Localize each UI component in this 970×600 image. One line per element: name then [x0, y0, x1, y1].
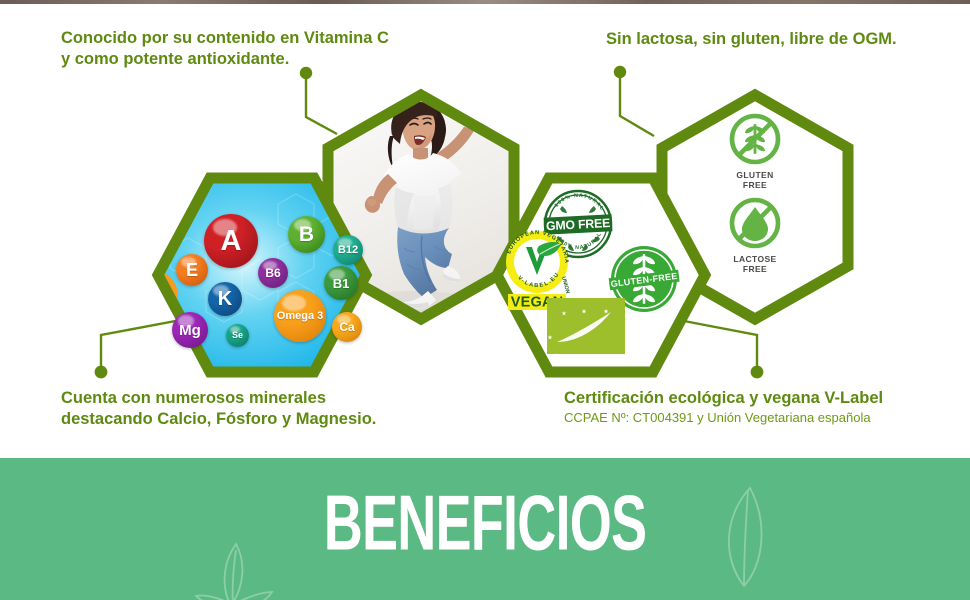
- vitamin-bubble-label: Ca: [339, 321, 354, 333]
- lactose-free-caption: LACTOSE FREE: [710, 255, 800, 275]
- bubble-gloss: [178, 315, 195, 327]
- bubble-gloss: [329, 269, 345, 280]
- vitamin-bubble-se: Se: [226, 324, 249, 347]
- vitamin-bubble-label: B12: [338, 245, 358, 256]
- bubble-gloss: [213, 219, 238, 236]
- callout-top-left: Conocido por su contenido en Vitamina C …: [61, 28, 389, 70]
- vitamin-bubble-b6: B6: [258, 258, 288, 288]
- vitamin-bubble-b: B: [288, 216, 325, 253]
- callout-top-left-line1: Conocido por su contenido en Vitamina C: [61, 28, 389, 49]
- vitamins-minerals-hexagon: ABB12EB6B1KOmega 3MgSeCa: [146, 172, 378, 378]
- vitamin-bubble-label: E: [186, 261, 198, 279]
- vitamin-bubble-k: K: [208, 282, 242, 316]
- connector-dot-top-right: [614, 66, 626, 78]
- gluten-free-icon-group: GLUTEN FREE: [710, 112, 800, 191]
- vitamin-bubble-label: Se: [232, 331, 243, 340]
- gluten-free-caption: GLUTEN FREE: [710, 171, 800, 191]
- callout-bottom-left-line2: destacando Calcio, Fósforo y Magnesio.: [61, 409, 376, 430]
- callout-bottom-right: Certificación ecológica y vegana V-Label…: [564, 388, 883, 427]
- vitamin-bubble-label: B: [299, 224, 314, 245]
- bubble-gloss: [181, 257, 196, 267]
- eu-organic-badge: [547, 298, 625, 354]
- vitamin-bubble-b1: B1: [324, 266, 358, 300]
- bubble-gloss: [230, 326, 241, 333]
- vegan-union-text: UNION: [560, 276, 570, 294]
- connector-dot-bottom-left: [95, 366, 108, 379]
- bubble-gloss: [213, 285, 229, 296]
- vitamin-bubble-label: K: [218, 289, 232, 309]
- bubble-gloss: [263, 261, 277, 271]
- certification-title: Certificación ecológica y vegana V-Label: [564, 388, 883, 409]
- vitamin-bubble-label: Mg: [179, 323, 201, 338]
- lactose-free-icon-group: LACTOSE FREE: [710, 196, 800, 275]
- vitamin-bubble-a: A: [204, 214, 258, 268]
- vitamin-bubble-layer: ABB12EB6B1KOmega 3MgSeCa: [146, 172, 378, 378]
- droplet-crossed-icon: [710, 196, 800, 252]
- certifications-hexagon: GMO FREE 100% NATURAL 100% NATURAL: [485, 172, 717, 378]
- callout-top-right-line1: Sin lactosa, sin gluten, libre de OGM.: [606, 29, 897, 50]
- vitamin-bubble-mg: Mg: [172, 312, 208, 348]
- callout-bottom-left: Cuenta con numerosos minerales destacand…: [61, 388, 376, 430]
- vitamin-bubble-label: B6: [265, 267, 280, 279]
- vitamin-bubble-label: A: [221, 227, 242, 256]
- wheat-crossed-icon: [710, 112, 800, 168]
- vitamin-bubble-label: Omega 3: [277, 311, 323, 322]
- vitamin-bubble-b12: B12: [333, 235, 363, 265]
- vitamin-bubble-ca: Ca: [332, 312, 362, 342]
- callout-top-right: Sin lactosa, sin gluten, libre de OGM.: [606, 29, 897, 50]
- vitamin-bubble-label: B1: [333, 277, 350, 290]
- banner-title: BENEFICIOS: [87, 477, 882, 567]
- certification-subtitle: CCPAE Nº: CT004391 y Unión Vegetariana e…: [564, 410, 883, 427]
- callout-top-left-line2: y como potente antioxidante.: [61, 49, 389, 70]
- bubble-gloss: [294, 219, 311, 231]
- vitamin-bubble-omega-3: Omega 3: [274, 290, 326, 342]
- infographic-stage: GLUTEN FREE LACTOSE FREE: [0, 0, 970, 600]
- bubble-gloss: [337, 315, 351, 325]
- bubble-gloss: [338, 238, 352, 248]
- connector-dot-bottom-right: [751, 366, 764, 379]
- bubble-gloss: [282, 295, 306, 312]
- beneficios-banner: BENEFICIOS: [0, 458, 970, 600]
- vitamin-bubble-e: E: [176, 254, 208, 286]
- callout-bottom-left-line1: Cuenta con numerosos minerales: [61, 388, 376, 409]
